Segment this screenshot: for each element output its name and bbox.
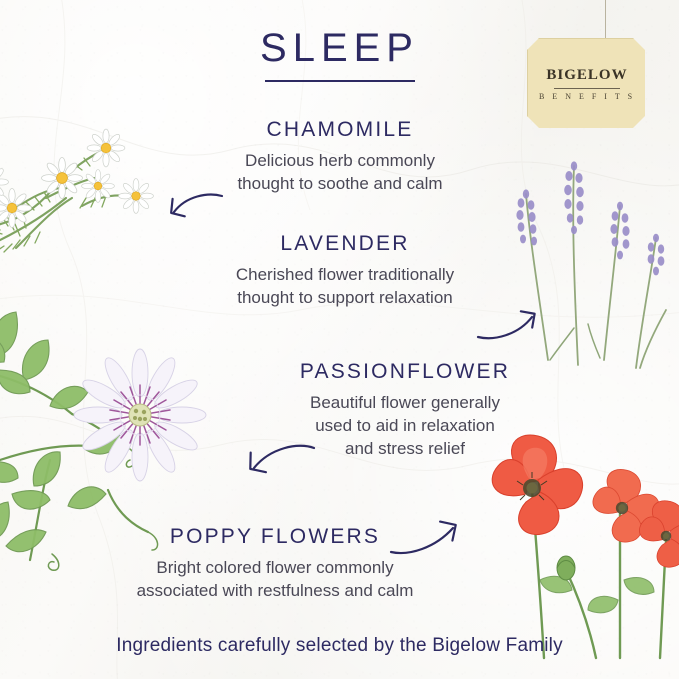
brand-tag: BIGELOW B E N E F I T S <box>527 38 647 130</box>
ingredient-chamomile-line1: Delicious herb commonly <box>160 149 520 172</box>
ingredient-passionflower-line2: used to aid in relaxation <box>210 414 600 437</box>
ingredient-chamomile-name: CHAMOMILE <box>160 118 520 142</box>
ingredient-chamomile: CHAMOMILE Delicious herb commonly though… <box>160 118 520 195</box>
brand-divider <box>554 88 620 89</box>
footer-text: Ingredients carefully selected by the Bi… <box>0 635 679 657</box>
tea-bag-tag: BIGELOW B E N E F I T S <box>519 0 659 160</box>
poppy-illustration <box>470 430 679 660</box>
ingredient-passionflower-line1: Beautiful flower generally <box>210 391 600 414</box>
product-infographic: SLEEP BIGELOW B E N E F I T S CHAMOMILE … <box>0 0 679 679</box>
tea-bag-string <box>605 0 606 40</box>
ingredient-lavender: LAVENDER Cherished flower traditionally … <box>160 232 530 309</box>
ingredient-lavender-name: LAVENDER <box>160 232 530 256</box>
title-underline <box>265 80 415 82</box>
curved-arrow-left-passionflower <box>236 440 326 485</box>
brand-subtitle: B E N E F I T S <box>539 92 635 101</box>
ingredient-poppy-line2: associated with restfulness and calm <box>80 579 470 602</box>
ingredient-lavender-line1: Cherished flower traditionally <box>160 263 530 286</box>
curved-arrow-right-poppy <box>385 518 475 563</box>
brand-name: BIGELOW <box>546 67 627 84</box>
ingredient-passionflower-name: PASSIONFLOWER <box>210 360 600 384</box>
curved-arrow-right-lavender <box>472 303 552 348</box>
curved-arrow-left-chamomile <box>160 190 230 235</box>
